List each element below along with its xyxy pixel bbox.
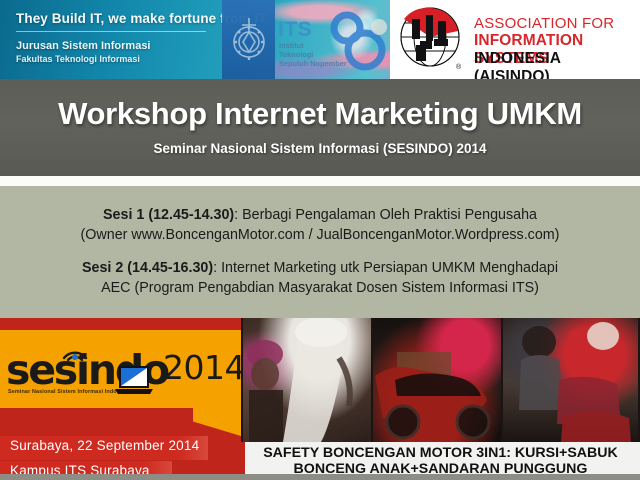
its-subtitle: Institut Teknologi Sepuluh Nopember: [279, 41, 347, 68]
photo-child-safety-seat: [503, 318, 638, 442]
sessions-section: Sesi 1 (12.45-14.30): Berbagi Pengalaman…: [0, 186, 640, 318]
its-subtitle-line2: Teknologi: [279, 50, 347, 59]
page-subtitle: Seminar Nasional Sistem Informasi (SESIN…: [0, 141, 640, 156]
photo-3-figures: [503, 318, 638, 442]
header-banner: They Build IT, we make fortune from IT J…: [0, 0, 640, 79]
its-wordmark: ITS: [278, 19, 312, 40]
caption-line1: SAFETY BONCENGAN MOTOR 3IN1: KURSI+SABUK: [241, 445, 640, 461]
sesindo-orange-tail: [193, 408, 241, 436]
session-2-label: Sesi 2 (14.45-16.30): [82, 260, 213, 276]
session-1: Sesi 1 (12.45-14.30): Berbagi Pengalaman…: [0, 205, 640, 245]
session-2-line2: AEC (Program Pengabdian Masyarakat Dosen…: [101, 280, 539, 296]
header-divider: [16, 31, 206, 32]
session-2: Sesi 2 (14.45-16.30): Internet Marketing…: [0, 258, 640, 298]
photo-1-figures: [243, 318, 371, 442]
aisindo-globe-logo-icon: ®: [396, 5, 466, 75]
sesindo-logo-block: sesindo Seminar Nasional Sistem Informas…: [0, 318, 241, 480]
aisindo-line1: ASSOCIATION FOR: [474, 15, 614, 32]
title-band: Workshop Internet Marketing UMKM Seminar…: [0, 79, 640, 176]
session-2-line1: : Internet Marketing utk Persiapan UMKM …: [213, 260, 558, 276]
photo-child-helmet: [243, 318, 371, 442]
header-department: Jurusan Sistem Informasi: [16, 40, 151, 52]
footer-strip: [0, 474, 640, 480]
laptop-icon: [113, 364, 155, 396]
photo-strip: SAFETY BONCENGAN MOTOR 3IN1: KURSI+SABUK…: [241, 318, 640, 480]
page-title: Workshop Internet Marketing UMKM: [0, 96, 640, 132]
photo-2-figures: [373, 318, 501, 442]
poster-canvas: They Build IT, we make fortune from IT J…: [0, 0, 640, 480]
session-1-line1: : Berbagi Pengalaman Oleh Praktisi Pengu…: [234, 207, 537, 223]
session-1-label: Sesi 1 (12.45-14.30): [103, 207, 234, 223]
its-subtitle-line3: Sepuluh Nopember: [279, 59, 347, 68]
band-divider: [0, 176, 640, 186]
aisindo-line3: INDONESIA (AISINDO): [474, 50, 640, 79]
session-1-line2: (Owner www.BoncenganMotor.com / JualBonc…: [81, 227, 560, 243]
header-faculty: Fakultas Teknologi Informasi: [16, 54, 140, 64]
sesindo-year: 2014: [163, 351, 241, 384]
its-gear-icon: [228, 14, 270, 62]
svg-text:®: ®: [456, 63, 462, 71]
sesindo-location-line1: Surabaya, 22 September 2014: [10, 438, 199, 453]
photo-motorcycle-night: [373, 318, 501, 442]
its-subtitle-line1: Institut: [279, 41, 347, 50]
